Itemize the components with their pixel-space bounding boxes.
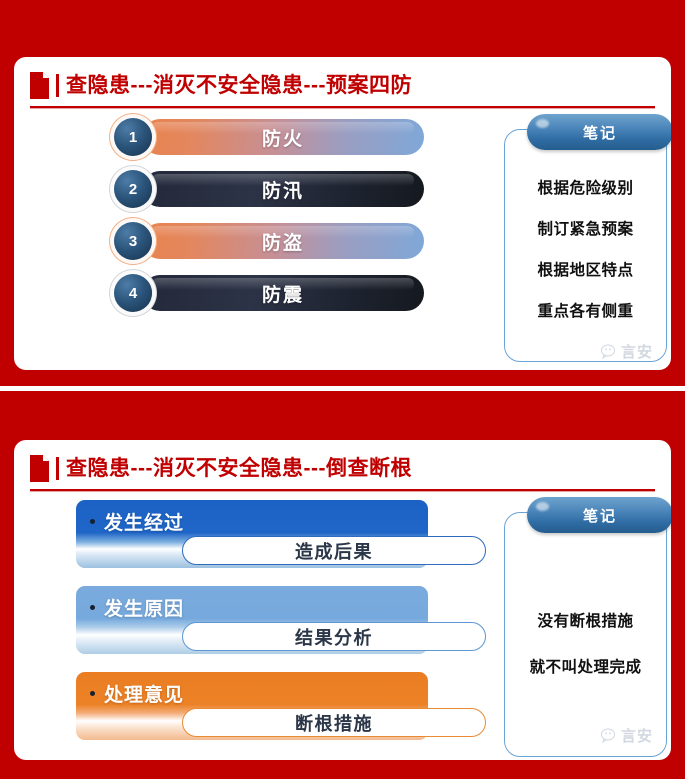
block-sub-label: 断根措施: [295, 710, 373, 736]
notes-line: 根据地区特点: [505, 258, 666, 280]
slide-2-title-rule: [30, 489, 655, 491]
document-page-icon: [30, 72, 49, 99]
notes-header-pill: 笔记: [527, 497, 671, 533]
slide-2: 查隐患---消灭不安全隐患---倒查断根 发生经过 造成后果: [0, 391, 685, 779]
bullet-dot-icon: [90, 605, 95, 610]
slide-2-body: 发生经过 造成后果 发生原因 结果分析: [14, 496, 671, 760]
bar-row[interactable]: 防震 4: [114, 275, 424, 311]
notes-header-label: 笔记: [583, 505, 617, 526]
notes-line: 重点各有侧重: [505, 299, 666, 321]
notes-line: 就不叫处理完成: [505, 655, 666, 677]
root-cause-block-list: 发生经过 造成后果 发生原因 结果分析: [76, 500, 486, 758]
bar-label: 防盗: [262, 228, 304, 255]
four-prevention-bar-list: 防火 1 防汛 2: [114, 119, 424, 327]
block-sub-label: 结果分析: [295, 624, 373, 650]
block-item[interactable]: 发生原因 结果分析: [76, 586, 486, 654]
slide-2-title: 查隐患---消灭不安全隐患---倒查断根: [66, 458, 412, 479]
pill-gloss-dot: [536, 119, 549, 128]
bar-fill-fangzhen: 防震: [142, 275, 424, 311]
bar-label: 防震: [262, 280, 304, 307]
slide-2-title-row: 查隐患---消灭不安全隐患---倒查断根: [30, 448, 655, 488]
slide-1-body: 防火 1 防汛 2: [14, 113, 671, 370]
bar-number-badge: 2: [114, 170, 152, 208]
slide-1-title-row: 查隐患---消灭不安全隐患---预案四防: [30, 65, 655, 105]
bar-number-badge: 1: [114, 118, 152, 156]
notes-header-label: 笔记: [583, 122, 617, 143]
block-header-label: 发生经过: [104, 508, 184, 535]
notes-panel: 笔记 没有断根措施 就不叫处理完成: [504, 512, 667, 757]
slide-deck-page: 查隐患---消灭不安全隐患---预案四防 防火 1: [0, 0, 685, 779]
bar-fill-fanghuo: 防火: [142, 119, 424, 155]
bar-number-badge: 3: [114, 222, 152, 260]
block-header: 发生原因: [90, 594, 184, 621]
notes-line-list: 根据危险级别 制订紧急预案 根据地区特点 重点各有侧重: [505, 176, 666, 340]
block-item[interactable]: 处理意见 断根措施: [76, 672, 486, 740]
notes-header-pill: 笔记: [527, 114, 671, 150]
bar-fill-fangxun: 防汛: [142, 171, 424, 207]
pill-gloss-dot: [536, 502, 549, 511]
bar-number-badge: 4: [114, 274, 152, 312]
slide-1-card: 查隐患---消灭不安全隐患---预案四防 防火 1: [14, 57, 671, 370]
block-sub-box[interactable]: 造成后果: [182, 536, 486, 565]
block-sub-box[interactable]: 结果分析: [182, 622, 486, 651]
notes-line: 根据危险级别: [505, 176, 666, 198]
slide-2-card: 查隐患---消灭不安全隐患---倒查断根 发生经过 造成后果: [14, 440, 671, 760]
notes-line: 制订紧急预案: [505, 217, 666, 239]
notes-panel: 笔记 根据危险级别 制订紧急预案 根据地区特点 重点各有侧重: [504, 129, 667, 362]
bar-fill-fangdao: 防盗: [142, 223, 424, 259]
block-header-label: 发生原因: [104, 594, 184, 621]
slide-1-title: 查隐患---消灭不安全隐患---预案四防: [66, 75, 412, 96]
slide-1: 查隐患---消灭不安全隐患---预案四防 防火 1: [0, 0, 685, 386]
bar-label: 防汛: [262, 176, 304, 203]
bullet-dot-icon: [90, 519, 95, 524]
bar-label: 防火: [262, 124, 304, 151]
title-divider-bar: [56, 74, 59, 97]
notes-line-list: 没有断根措施 就不叫处理完成: [505, 609, 666, 701]
document-page-icon: [30, 455, 49, 482]
bar-row[interactable]: 防火 1: [114, 119, 424, 155]
block-header: 处理意见: [90, 680, 184, 707]
block-header-label: 处理意见: [104, 680, 184, 707]
bar-row[interactable]: 防盗 3: [114, 223, 424, 259]
bar-row[interactable]: 防汛 2: [114, 171, 424, 207]
title-divider-bar: [56, 457, 59, 480]
block-sub-label: 造成后果: [295, 538, 373, 564]
block-item[interactable]: 发生经过 造成后果: [76, 500, 486, 568]
block-sub-box[interactable]: 断根措施: [182, 708, 486, 737]
bullet-dot-icon: [90, 691, 95, 696]
notes-line: 没有断根措施: [505, 609, 666, 631]
slide-1-title-rule: [30, 106, 655, 108]
block-header: 发生经过: [90, 508, 184, 535]
